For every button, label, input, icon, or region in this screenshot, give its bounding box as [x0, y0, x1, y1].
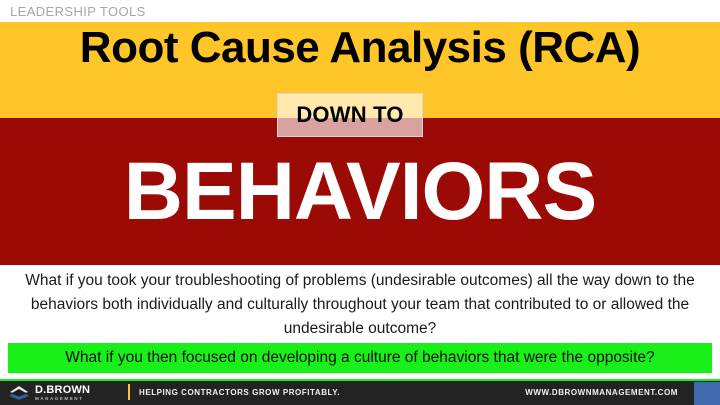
slide-title: Root Cause Analysis (RCA) — [0, 0, 720, 96]
brand-logo: D.BROWN MANAGEMENT — [8, 383, 90, 403]
logo-sub-text: MANAGEMENT — [35, 397, 90, 402]
footer-divider — [128, 384, 130, 400]
callout-text: What if you then focused on developing a… — [65, 349, 654, 367]
dbrown-logo-icon — [8, 385, 30, 401]
headline-text: BEHAVIORS — [0, 118, 720, 265]
footer-corner-block — [694, 382, 720, 405]
down-to-badge: DOWN TO — [277, 93, 423, 137]
body-paragraph: What if you took your troubleshooting of… — [14, 269, 706, 341]
slide-canvas: LEADERSHIP TOOLS Root Cause Analysis (RC… — [0, 0, 720, 405]
callout-banner: What if you then focused on developing a… — [8, 343, 712, 373]
logo-name-text: D.BROWN — [35, 385, 90, 396]
footer-tagline: HELPING CONTRACTORS GROW PROFITABLY. — [139, 381, 340, 405]
logo-wordmark: D.BROWN MANAGEMENT — [35, 385, 90, 402]
footer-website-url: WWW.DBROWNMANAGEMENT.COM — [525, 381, 678, 405]
